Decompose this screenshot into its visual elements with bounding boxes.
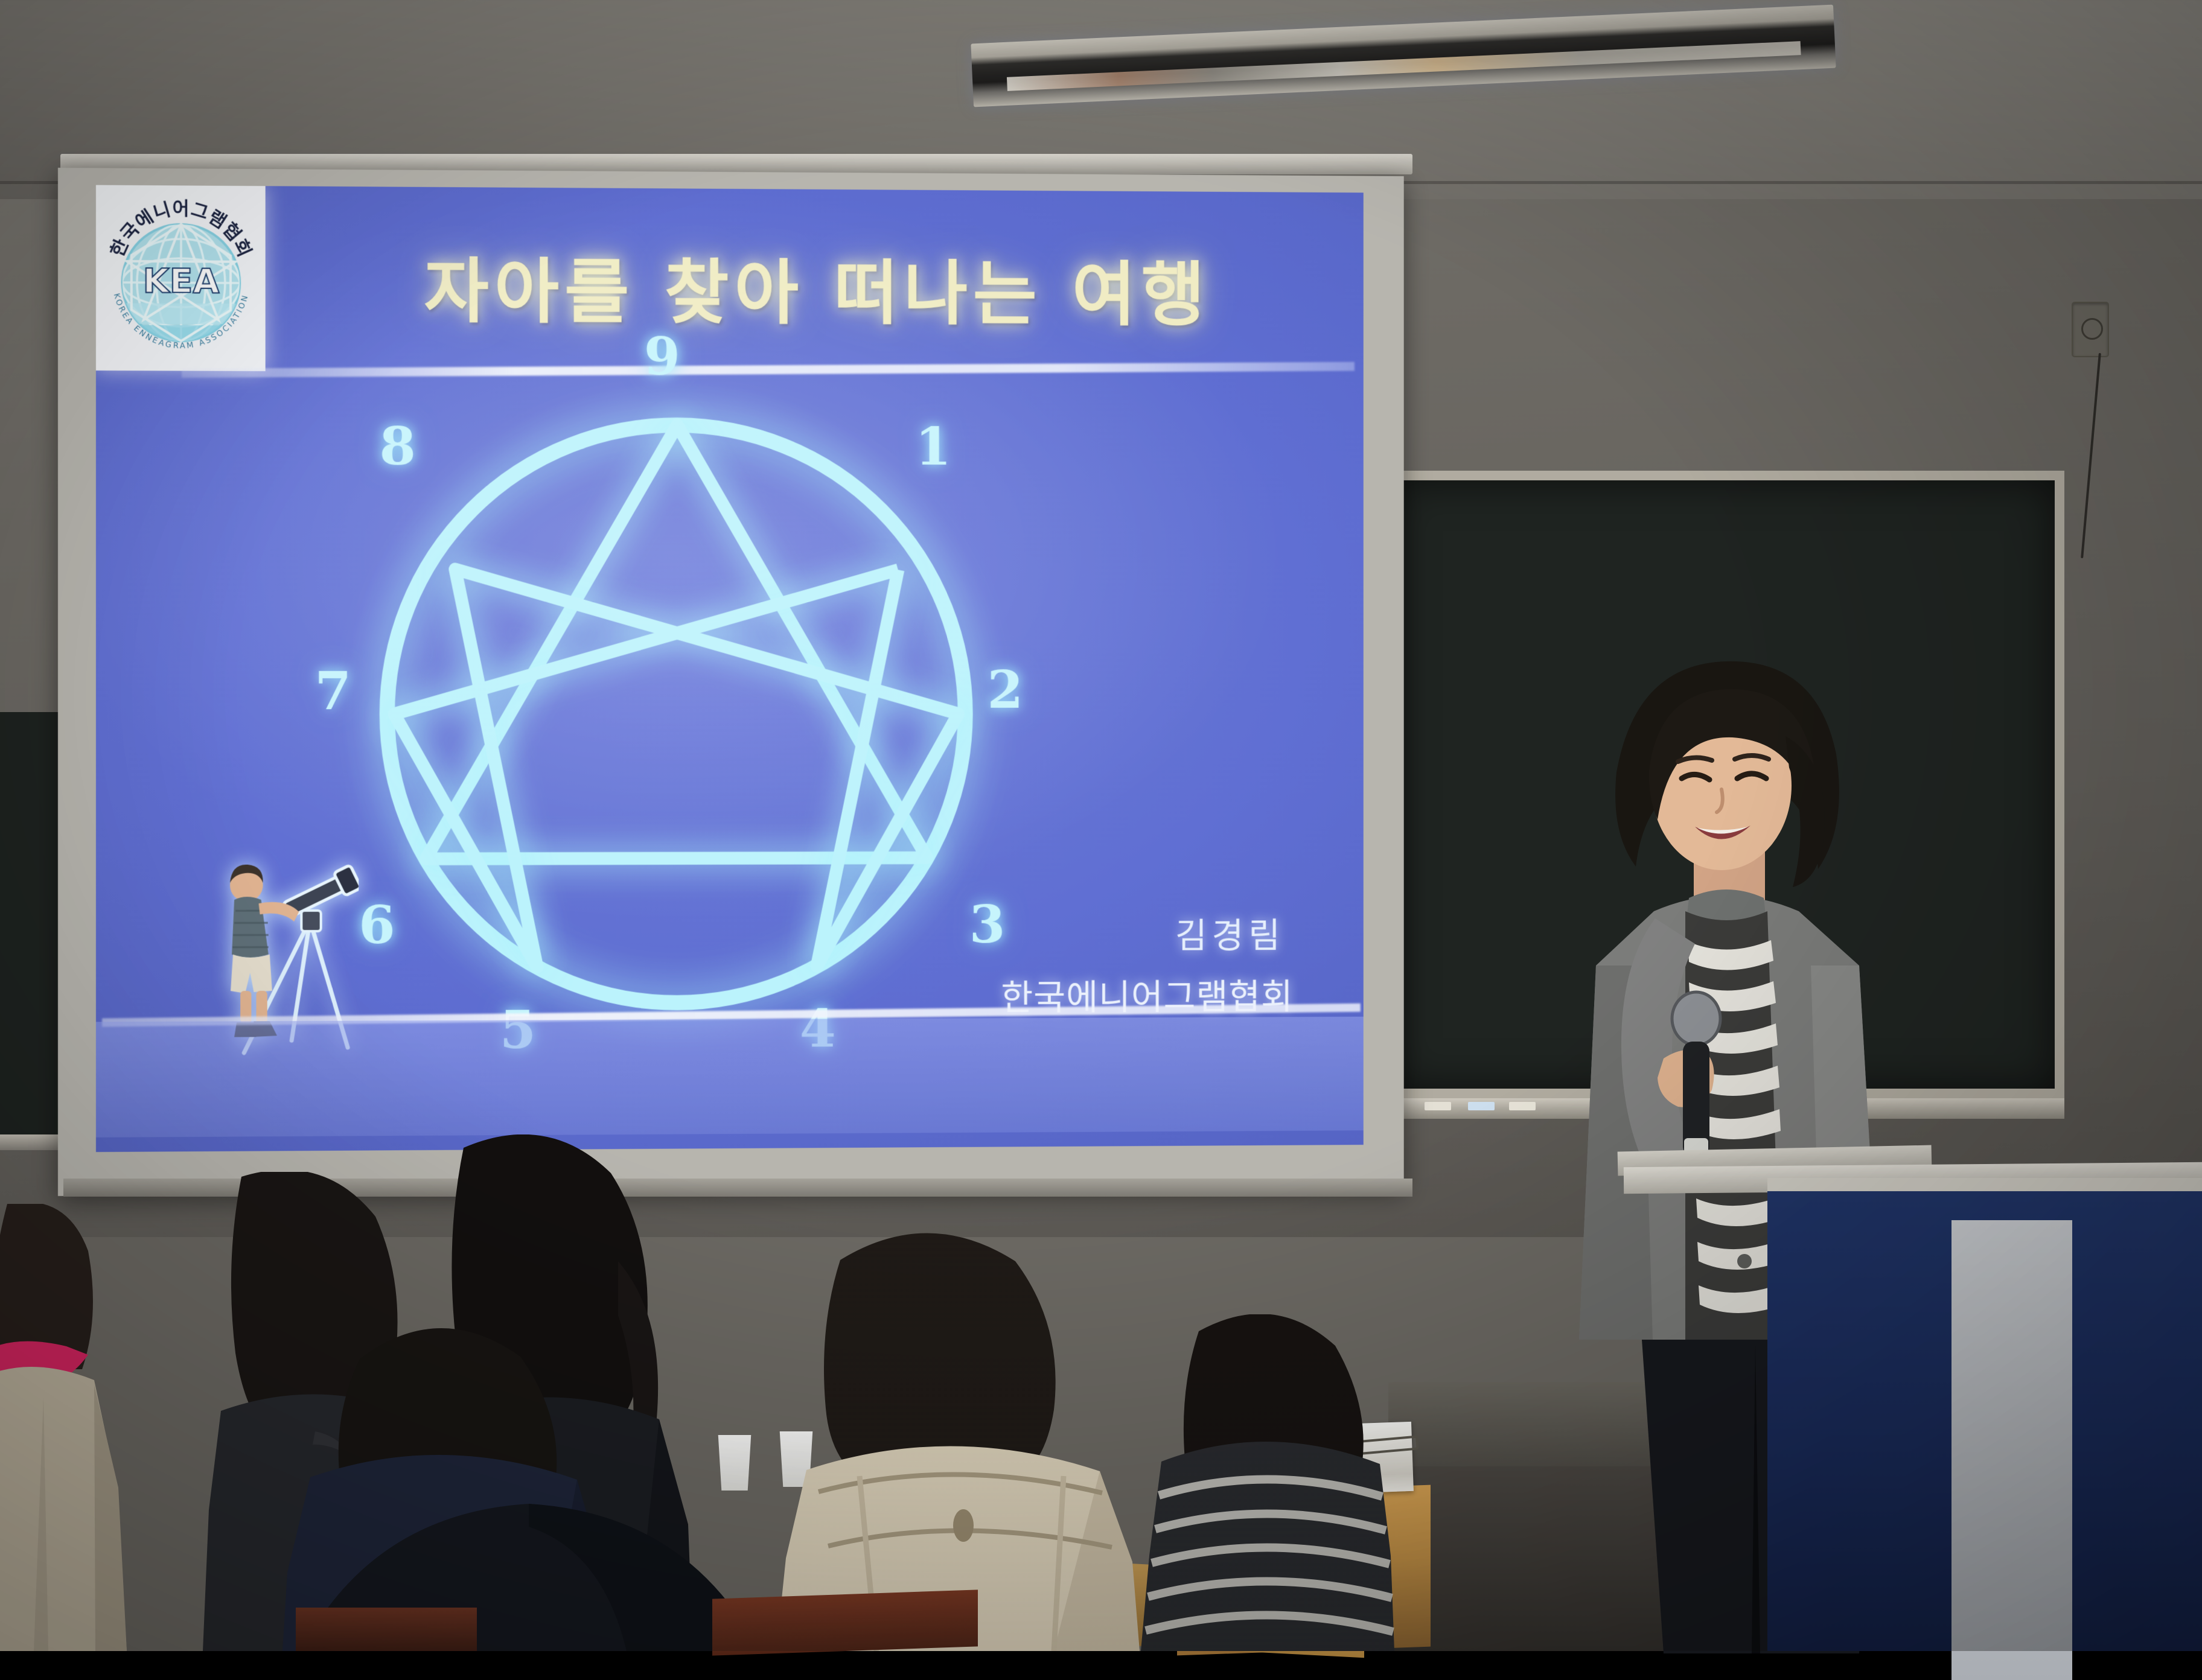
enneagram-logo-icon: 한국에니어그램협회 [101, 189, 260, 366]
slide-title: 자아를 찾아 떠나는 여행 [304, 234, 1327, 340]
enneagram-point-6: 6 [359, 894, 395, 956]
enneagram-point-1: 1 [915, 416, 951, 477]
lecture-room: 한국에니어그램협회 [0, 0, 2202, 1651]
chair-back [296, 1608, 477, 1651]
kea-logo-badge: 한국에니어그램협회 [96, 185, 266, 371]
screen-surface: 한국에니어그램협회 [96, 185, 1364, 1152]
enneagram-circle [387, 424, 965, 1004]
audience-member [770, 1232, 1157, 1651]
enneagram-svg [340, 387, 1011, 1042]
enneagram-point-9: 9 [644, 326, 680, 387]
audience-member [0, 1204, 175, 1651]
lectern-stripe [1951, 1220, 2072, 1680]
lectern [1767, 1178, 2202, 1651]
presentation-slide: 한국에니어그램협회 [96, 185, 1364, 1152]
chair-back [712, 1589, 978, 1655]
slide-footer-band [96, 1017, 1364, 1137]
enneagram-point-2: 2 [988, 660, 1023, 721]
chalk-piece [1425, 1102, 1451, 1110]
slide-divider-top [182, 362, 1355, 378]
enneagram-diagram: 9 1 2 3 4 5 6 7 8 [340, 387, 1011, 1042]
chalk-piece [1468, 1102, 1495, 1110]
audience-person-5 [770, 1232, 1157, 1651]
audience-member [1141, 1314, 1394, 1651]
enneagram-point-7: 7 [315, 661, 351, 722]
eraser [1509, 1102, 1536, 1110]
enneagram-point-3: 3 [969, 894, 1005, 955]
wall-outlet [2072, 302, 2109, 357]
presenter-name: 김경림 [1175, 907, 1285, 958]
enneagram-point-8: 8 [380, 416, 416, 477]
audience-person-1 [0, 1204, 175, 1651]
projection-screen: 한국에니어그램협회 [58, 168, 1404, 1196]
audience-person-6 [1141, 1314, 1394, 1651]
svg-text:KEA: KEA [142, 261, 219, 301]
